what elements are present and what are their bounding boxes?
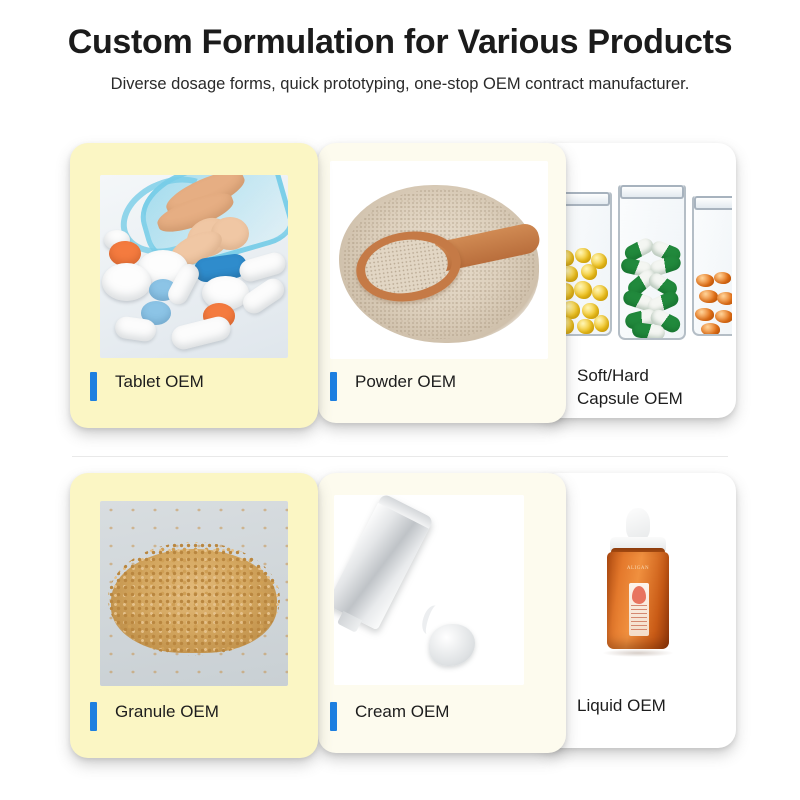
accent-bar-icon (330, 372, 337, 401)
cream-oem-thumbnail (334, 495, 524, 685)
powder-oem-thumbnail (330, 161, 548, 359)
tablet-oem-thumbnail (100, 175, 288, 358)
powder-oem-label-row: Powder OEM (330, 371, 456, 401)
cream-tube-illustration (334, 495, 524, 685)
accent-bar-icon (330, 702, 337, 731)
bottle-brand-text: ALIGAN (613, 565, 663, 578)
cream-oem-label-row: Cream OEM (330, 701, 449, 731)
liquid-oem-thumbnail: ALIGAN (560, 497, 716, 687)
product-card-cream-oem[interactable]: Cream OEM (318, 473, 566, 753)
granule-oem-thumbnail (100, 501, 288, 686)
capsule-oem-thumbnail (542, 171, 732, 347)
product-card-tablet-oem[interactable]: Tablet OEM (70, 143, 318, 428)
powder-illustration (330, 161, 548, 359)
tablets-illustration (100, 175, 288, 358)
cream-oem-label: Cream OEM (355, 701, 449, 724)
product-card-granule-oem[interactable]: Granule OEM (70, 473, 318, 758)
product-card-liquid-oem[interactable]: ALIGAN Liquid OEM (540, 473, 736, 748)
granules-illustration (100, 501, 288, 686)
granule-oem-label: Granule OEM (115, 701, 219, 724)
tablet-oem-label-row: Tablet OEM (90, 371, 204, 401)
accent-bar-icon (90, 702, 97, 731)
dropper-bottle-illustration: ALIGAN (560, 497, 716, 687)
tablet-oem-label: Tablet OEM (115, 371, 204, 394)
capsule-oem-label-row: Soft/Hard Capsule OEM (552, 365, 683, 411)
product-card-powder-oem[interactable]: Powder OEM (318, 143, 566, 423)
liquid-oem-label: Liquid OEM (577, 695, 666, 718)
product-grid: Tablet OEM Powder OEM (0, 0, 800, 800)
product-card-capsule-oem[interactable]: Soft/Hard Capsule OEM (540, 143, 736, 418)
accent-bar-icon (90, 372, 97, 401)
liquid-oem-label-row: Liquid OEM (552, 695, 666, 725)
product-row-one: Tablet OEM Powder OEM (0, 143, 800, 433)
capsule-oem-label: Soft/Hard Capsule OEM (577, 365, 683, 411)
capsule-jars-illustration (542, 171, 732, 347)
powder-oem-label: Powder OEM (355, 371, 456, 394)
product-row-two: Granule OEM Cream OEM (0, 473, 800, 763)
granule-oem-label-row: Granule OEM (90, 701, 219, 731)
